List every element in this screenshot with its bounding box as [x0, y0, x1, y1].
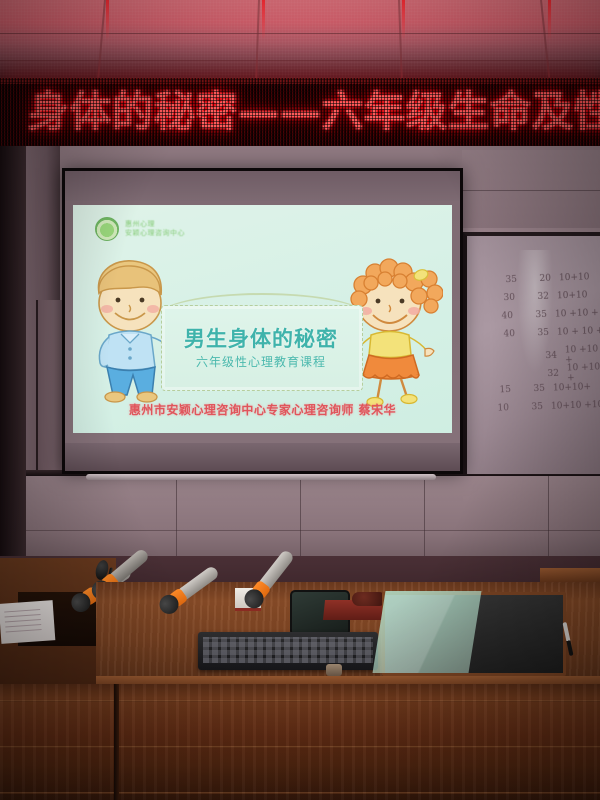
whiteboard-number: 35: [517, 402, 543, 413]
lecture-podium: [0, 556, 600, 800]
wainscot-seam: [300, 476, 301, 568]
whiteboard-number: 30: [489, 293, 515, 304]
whiteboard-line: 10 35 10+10 +10: [483, 400, 600, 414]
projection-screen-bottom-bar: [86, 474, 436, 480]
whiteboard-equation: 10+10 +10: [551, 400, 600, 412]
whiteboard-number: 40: [487, 311, 513, 322]
whiteboard-number: 32: [523, 292, 549, 303]
classroom-photo-scene: 身体的秘密——六年级生命及性心理 35 20 10+10 30 32 10+10…: [0, 0, 600, 800]
whiteboard-number: 40: [489, 329, 515, 340]
whiteboard-equation: 10+10: [557, 290, 588, 301]
paper-sheet[interactable]: [0, 600, 55, 644]
ceiling: [0, 0, 600, 78]
ceiling-light-streak: [548, 0, 551, 40]
logo-line-2: 安颖心理咨询中心: [125, 229, 185, 238]
wall-panel-seam: [462, 190, 600, 191]
whiteboard: 35 20 10+10 30 32 10+10 40 35 10 +10 + 4…: [462, 232, 600, 474]
wall-left-shadow: [0, 146, 26, 566]
whiteboard-equation: 10 + 10 +: [557, 326, 600, 338]
wainscot-seam: [424, 476, 425, 568]
whiteboard-line: 40 35 10 +10 +: [487, 308, 599, 322]
slide-presenter-credit: 惠州市安颖心理咨询中心专家心理咨询师 蔡宋华: [73, 401, 452, 418]
wall-wainscot-panels: [26, 476, 600, 568]
whiteboard-number: 20: [525, 274, 551, 285]
whiteboard-line: 35 20 10+10: [491, 272, 590, 285]
led-banner-text: 身体的秘密——六年级生命及性心理: [28, 92, 600, 133]
logo-emblem-icon: [95, 217, 119, 241]
whiteboard-number: 15: [485, 385, 511, 396]
wood-plank-seam: [0, 746, 600, 748]
led-glow: [0, 78, 600, 84]
glass-reflection: [385, 595, 563, 673]
whiteboard-number: 35: [523, 328, 549, 339]
screen-bottom-band: [65, 443, 460, 471]
wall-panel-above-whiteboard: [462, 150, 600, 228]
wainscot-seam: [548, 476, 549, 568]
slide-subtitle: 六年级性心理教育课程: [161, 353, 361, 370]
ceiling-light-streak: [402, 0, 405, 40]
podium-side-rail: [540, 568, 600, 582]
whiteboard-equation: 10 +10 +: [555, 308, 599, 320]
wainscot-seam: [176, 476, 177, 568]
whiteboard-line: 40 35 10 + 10 +: [489, 326, 600, 340]
whiteboard-equation: 10+10+: [553, 382, 591, 393]
whiteboard-number: 35: [519, 384, 545, 395]
whiteboard-number: 32: [533, 369, 559, 380]
organization-logo: 惠州心理 安颖心理咨询中心: [95, 217, 185, 241]
presentation-slide: 惠州心理 安颖心理咨询中心: [73, 205, 452, 433]
whiteboard-number: 35: [491, 275, 517, 286]
led-scrolling-banner: 身体的秘密——六年级生命及性心理: [0, 78, 600, 146]
ceiling-seam: [0, 33, 600, 34]
logo-text: 惠州心理 安颖心理咨询中心: [125, 220, 185, 238]
whiteboard-number: 35: [521, 310, 547, 321]
red-object[interactable]: [352, 592, 386, 606]
keyboard[interactable]: [198, 632, 378, 670]
desk-small-object[interactable]: [326, 664, 342, 676]
projection-screen: 惠州心理 安颖心理咨询中心: [62, 168, 463, 474]
ceiling-seam: [0, 60, 600, 61]
wainscot-seam: [26, 530, 600, 531]
ceiling-texture: [0, 0, 600, 78]
slide-title: 男生身体的秘密: [161, 323, 361, 353]
whiteboard-number: [497, 357, 523, 358]
wood-plank-seam: [0, 700, 600, 702]
recessed-monitor[interactable]: [382, 592, 566, 676]
whiteboard-equation: 10+10: [559, 272, 590, 283]
whiteboard-number: 34: [531, 351, 557, 362]
wood-plank-seam: [0, 792, 600, 794]
whiteboard-line: 30 32 10+10: [489, 290, 588, 303]
ceiling-light-streak: [106, 0, 109, 40]
podium-front-panel: [0, 684, 600, 800]
ceiling-light-streak: [262, 0, 265, 40]
whiteboard-equation: 10 +10 +: [567, 362, 600, 383]
whiteboard-number: [499, 375, 525, 376]
screen-top-band: [65, 171, 460, 201]
logo-line-1: 惠州心理: [125, 220, 185, 229]
whiteboard-number: 10: [483, 403, 509, 414]
podium-corner-edge: [114, 684, 119, 800]
